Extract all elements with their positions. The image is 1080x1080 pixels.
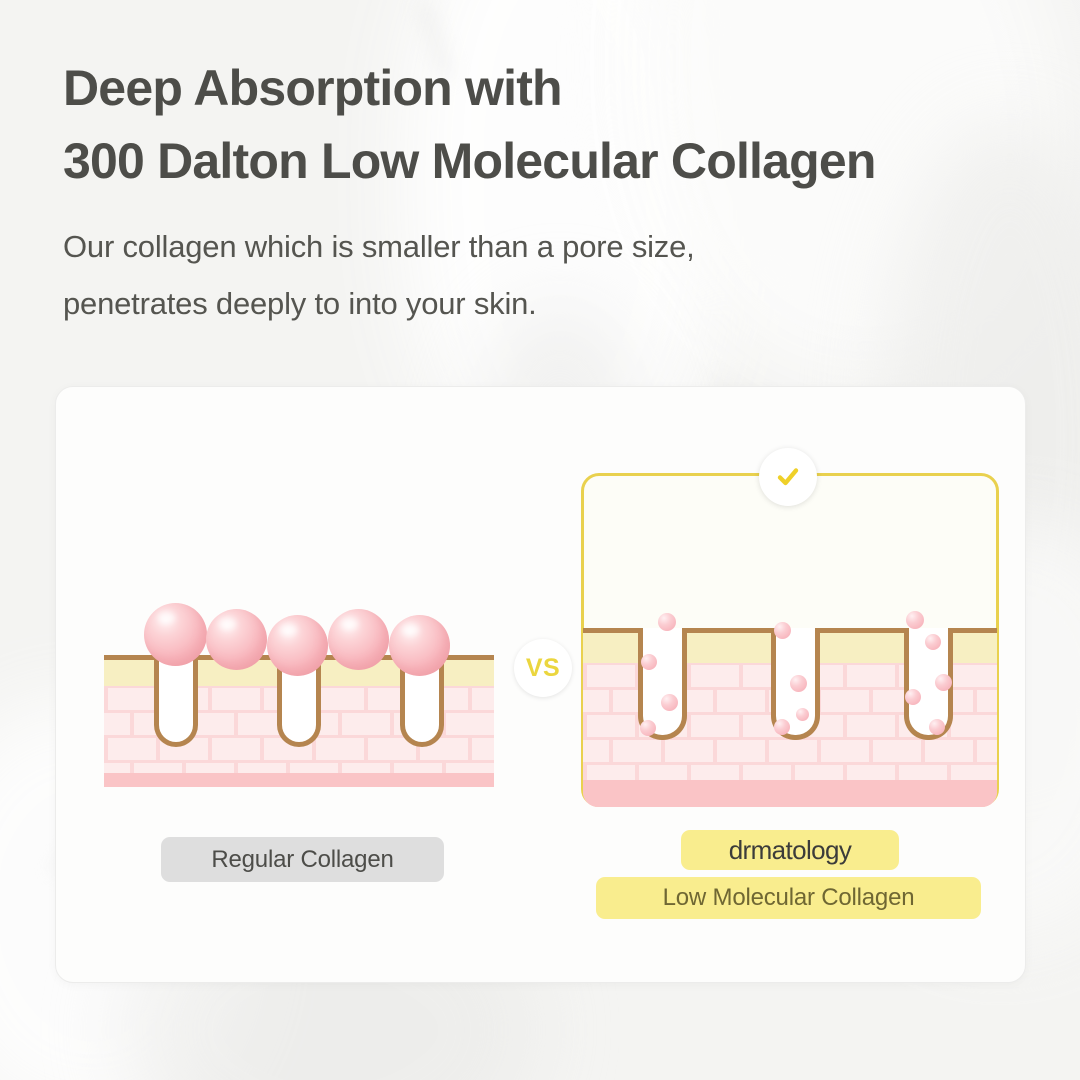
regular-collagen-diagram <box>104 599 494 787</box>
check-icon <box>773 462 803 492</box>
dermis-base-layer <box>583 780 997 807</box>
low-molecular-collagen-particle <box>796 708 809 721</box>
regular-collagen-caption: Regular Collagen <box>161 837 444 882</box>
vs-badge: VS <box>514 639 572 697</box>
low-molecular-collagen-particle <box>640 720 656 736</box>
low-molecular-caption-bottom: Low Molecular Collagen <box>596 877 981 919</box>
low-molecular-collagen-particle <box>641 654 657 670</box>
low-molecular-caption-bottom-label: Low Molecular Collagen <box>663 884 915 912</box>
low-molecular-collagen-particle <box>929 719 945 735</box>
regular-collagen-sphere <box>389 615 450 676</box>
low-molecular-collagen-particle <box>790 675 807 692</box>
low-molecular-collagen-particle <box>661 694 678 711</box>
page-title-line-2: 300 Dalton Low Molecular Collagen <box>63 125 1043 198</box>
low-molecular-collagen-particle <box>906 611 924 629</box>
page-title-line-1: Deep Absorption with <box>63 52 1043 125</box>
check-badge <box>759 448 817 506</box>
low-molecular-collagen-particle <box>925 634 941 650</box>
low-molecular-collagen-particle <box>658 613 676 631</box>
page-subtitle-line-2: penetrates deeply to into your skin. <box>63 275 963 332</box>
low-molecular-collagen-particle <box>905 689 921 705</box>
regular-collagen-sphere <box>328 609 389 670</box>
low-molecular-collagen-particle <box>935 674 952 691</box>
low-molecular-collagen-particle <box>774 622 791 639</box>
dermis-brick-row <box>583 740 997 762</box>
regular-collagen-sphere <box>206 609 267 670</box>
low-molecular-caption-top-label: drmatology <box>681 830 899 870</box>
comparison-card: VS <box>55 386 1026 983</box>
regular-collagen-sphere <box>144 603 207 666</box>
dermis-base-layer <box>104 773 494 787</box>
page-subtitle: Our collagen which is smaller than a por… <box>63 218 963 333</box>
regular-collagen-sphere <box>267 615 328 676</box>
low-molecular-collagen-diagram <box>581 473 999 807</box>
low-molecular-collagen-particle <box>774 719 790 735</box>
page-title: Deep Absorption with 300 Dalton Low Mole… <box>63 52 1043 198</box>
pore-shape <box>154 655 198 747</box>
vs-label: VS <box>526 654 560 683</box>
page-subtitle-line-1: Our collagen which is smaller than a por… <box>63 218 963 275</box>
regular-collagen-caption-label: Regular Collagen <box>211 846 393 874</box>
